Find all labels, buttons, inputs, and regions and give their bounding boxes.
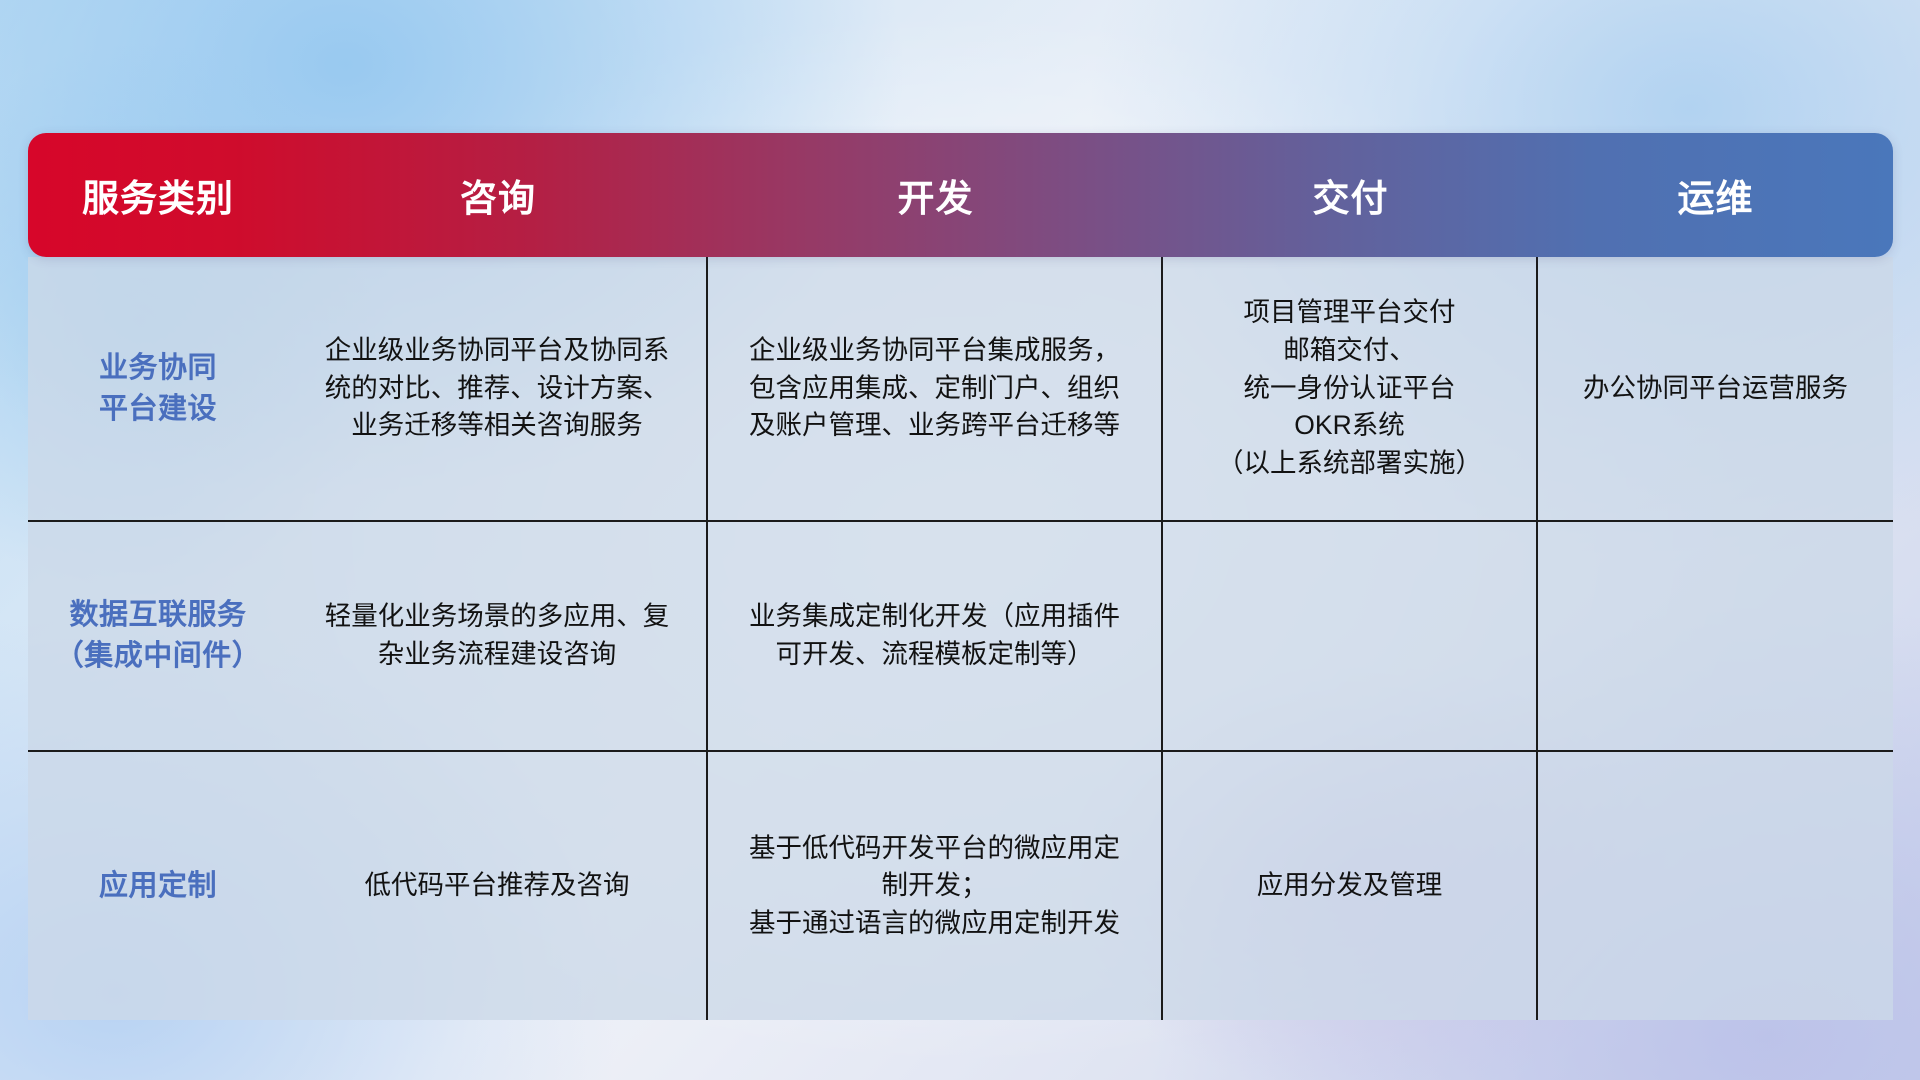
cell-line: 制开发； [724, 867, 1145, 905]
cell-line: 低代码平台推荐及咨询 [304, 867, 690, 905]
cell-lines: 项目管理平台交付 邮箱交付、 统一身份认证平台 OKR系统 （以上系统部署实施） [1179, 294, 1520, 482]
cell-line: 统的对比、推荐、设计方案、 [304, 370, 690, 408]
table-body: 业务协同 平台建设 企业级业务协同平台及协同系 统的对比、推荐、设计方案、 业务… [28, 257, 1893, 1020]
cell-line: 业务集成定制化开发（应用插件 [724, 598, 1145, 636]
cell-lines: 企业级业务协同平台集成服务， 包含应用集成、定制门户、组织 及账户管理、业务跨平… [724, 332, 1145, 445]
cell-delivery-row2 [1163, 522, 1538, 752]
cell-line: 应用分发及管理 [1179, 867, 1520, 905]
cell-consulting-row3: 低代码平台推荐及咨询 [288, 752, 708, 1020]
cell-lines: 企业级业务协同平台及协同系 统的对比、推荐、设计方案、 业务迁移等相关咨询服务 [304, 332, 690, 445]
cell-operations-row3 [1538, 752, 1893, 1020]
label-line: 应用定制 [44, 866, 272, 907]
cell-line: 基于低代码开发平台的微应用定 [724, 830, 1145, 868]
cell-line: 轻量化业务场景的多应用、复 [304, 598, 690, 636]
cell-line: 杂业务流程建设咨询 [304, 636, 690, 674]
table-row: 应用定制 低代码平台推荐及咨询 基于低代码开发平台的微应用定 制开发； 基于通过… [28, 752, 1893, 1020]
cell-line: OKR系统 [1179, 407, 1520, 445]
cell-development-row2: 业务集成定制化开发（应用插件 可开发、流程模板定制等） [708, 522, 1163, 752]
cell-line: 企业级业务协同平台及协同系 [304, 332, 690, 370]
column-header-operations: 运维 [1538, 133, 1893, 257]
cell-operations-row1: 办公协同平台运营服务 [1538, 257, 1893, 522]
cell-lines: 轻量化业务场景的多应用、复 杂业务流程建设咨询 [304, 598, 690, 673]
slide-canvas: 服务类别 咨询 开发 交付 运维 业务协同 平台建设 [0, 0, 1920, 1080]
cell-line: 企业级业务协同平台集成服务， [724, 332, 1145, 370]
cell-line: 可开发、流程模板定制等） [724, 636, 1145, 674]
cell-line: 基于通过语言的微应用定制开发 [724, 905, 1145, 943]
column-header-category: 服务类别 [28, 133, 288, 257]
label-line: 业务协同 [44, 348, 272, 389]
row-label-lines: 数据互联服务 （集成中间件） [44, 595, 272, 676]
cell-lines: 低代码平台推荐及咨询 [304, 867, 690, 905]
cell-line: 邮箱交付、 [1179, 332, 1520, 370]
cell-lines: 业务集成定制化开发（应用插件 可开发、流程模板定制等） [724, 598, 1145, 673]
table-head: 服务类别 咨询 开发 交付 运维 [28, 133, 1893, 257]
header-row: 服务类别 咨询 开发 交付 运维 [28, 133, 1893, 257]
cell-line: 包含应用集成、定制门户、组织 [724, 370, 1145, 408]
cell-development-row3: 基于低代码开发平台的微应用定 制开发； 基于通过语言的微应用定制开发 [708, 752, 1163, 1020]
row-label-data-interconnect: 数据互联服务 （集成中间件） [28, 522, 288, 752]
label-line: （集成中间件） [44, 636, 272, 677]
label-line: 平台建设 [44, 389, 272, 430]
cell-consulting-row1: 企业级业务协同平台及协同系 统的对比、推荐、设计方案、 业务迁移等相关咨询服务 [288, 257, 708, 522]
service-matrix-table-wrapper: 服务类别 咨询 开发 交付 运维 业务协同 平台建设 [28, 133, 1893, 1020]
column-header-delivery: 交付 [1163, 133, 1538, 257]
row-label-app-customization: 应用定制 [28, 752, 288, 1020]
cell-lines: 基于低代码开发平台的微应用定 制开发； 基于通过语言的微应用定制开发 [724, 830, 1145, 943]
row-label-lines: 业务协同 平台建设 [44, 348, 272, 429]
cell-development-row1: 企业级业务协同平台集成服务， 包含应用集成、定制门户、组织 及账户管理、业务跨平… [708, 257, 1163, 522]
cell-line: 业务迁移等相关咨询服务 [304, 407, 690, 445]
cell-lines: 办公协同平台运营服务 [1554, 370, 1877, 408]
table-row: 业务协同 平台建设 企业级业务协同平台及协同系 统的对比、推荐、设计方案、 业务… [28, 257, 1893, 522]
cell-delivery-row3: 应用分发及管理 [1163, 752, 1538, 1020]
cell-line: 办公协同平台运营服务 [1554, 370, 1877, 408]
cell-consulting-row2: 轻量化业务场景的多应用、复 杂业务流程建设咨询 [288, 522, 708, 752]
cell-line: 项目管理平台交付 [1179, 294, 1520, 332]
cell-line: 统一身份认证平台 [1179, 370, 1520, 408]
cell-line: 及账户管理、业务跨平台迁移等 [724, 407, 1145, 445]
table-row: 数据互联服务 （集成中间件） 轻量化业务场景的多应用、复 杂业务流程建设咨询 业… [28, 522, 1893, 752]
row-label-business-collaboration: 业务协同 平台建设 [28, 257, 288, 522]
row-label-lines: 应用定制 [44, 866, 272, 907]
column-header-consulting: 咨询 [288, 133, 708, 257]
cell-lines: 应用分发及管理 [1179, 867, 1520, 905]
label-line: 数据互联服务 [44, 595, 272, 636]
cell-delivery-row1: 项目管理平台交付 邮箱交付、 统一身份认证平台 OKR系统 （以上系统部署实施） [1163, 257, 1538, 522]
service-matrix-table: 服务类别 咨询 开发 交付 运维 业务协同 平台建设 [28, 133, 1893, 1020]
cell-line: （以上系统部署实施） [1179, 445, 1520, 483]
cell-operations-row2 [1538, 522, 1893, 752]
column-header-development: 开发 [708, 133, 1163, 257]
